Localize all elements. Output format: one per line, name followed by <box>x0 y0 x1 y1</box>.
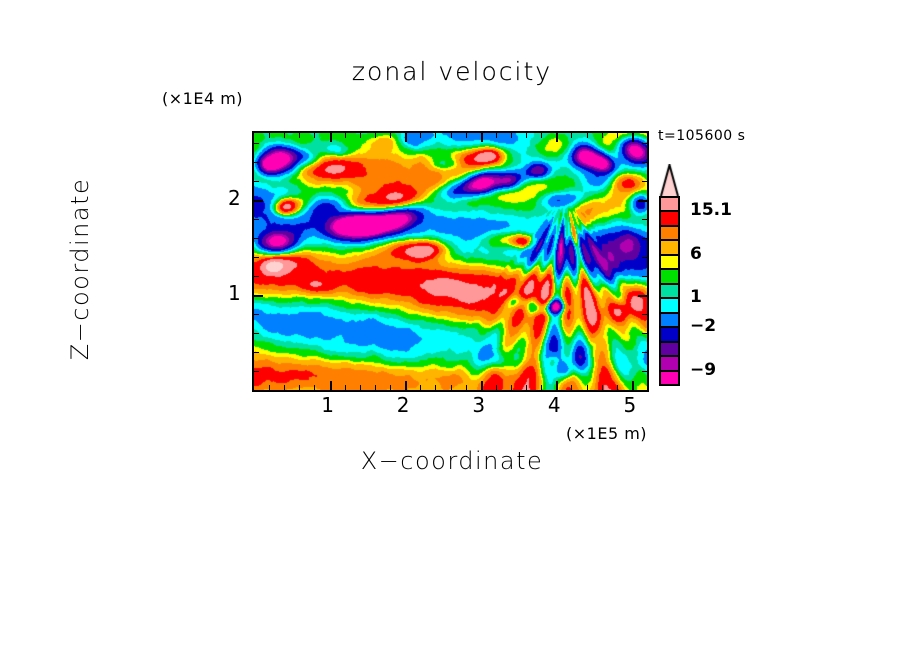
y-tick-left <box>254 314 259 315</box>
y-tick-right <box>638 200 647 202</box>
colorbar <box>659 196 680 384</box>
colorbar-top-cap <box>659 164 680 196</box>
x-tick-bottom <box>314 385 315 390</box>
x-tick-top <box>556 133 558 142</box>
y-tick-right <box>642 181 647 182</box>
y-tick-right <box>642 143 647 144</box>
x-tick-top <box>314 133 315 138</box>
x-tick-bottom <box>299 385 300 390</box>
x-axis-title: X−coordinate <box>0 447 904 475</box>
x-tick-top <box>420 133 421 138</box>
y-tick-label: 1 <box>228 281 241 305</box>
x-tick-top <box>571 133 572 138</box>
x-tick-bottom <box>345 385 346 390</box>
colorbar-tick-label: −9 <box>690 360 716 380</box>
x-tick-top <box>330 133 332 142</box>
y-tick-left <box>254 200 263 202</box>
y-tick-right <box>642 352 647 353</box>
x-tick-bottom <box>617 385 618 390</box>
x-tick-top <box>617 133 618 138</box>
x-tick-top <box>299 133 300 138</box>
x-tick-top <box>390 133 391 138</box>
y-tick-right <box>642 257 647 258</box>
contour-plot-area <box>252 131 649 392</box>
x-tick-top <box>632 133 634 142</box>
y-tick-right <box>638 295 647 297</box>
x-axis-units-label: (×1E5 m) <box>566 424 647 443</box>
colorbar-segment <box>659 312 680 326</box>
y-tick-left <box>254 276 259 277</box>
x-tick-bottom <box>284 385 285 390</box>
x-tick-top <box>541 133 542 138</box>
colorbar-cap-canvas <box>659 164 680 196</box>
colorbar-segment <box>659 341 680 355</box>
x-tick-top <box>360 133 361 138</box>
y-tick-left <box>254 162 259 163</box>
x-tick-bottom <box>602 385 603 390</box>
x-tick-label: 4 <box>548 393 561 417</box>
x-tick-top <box>375 133 376 138</box>
y-tick-left <box>254 181 259 182</box>
x-tick-bottom <box>375 385 376 390</box>
y-axis-units-label: (×1E4 m) <box>162 89 243 108</box>
x-tick-bottom <box>360 385 361 390</box>
y-tick-right <box>642 219 647 220</box>
colorbar-segment <box>659 239 680 253</box>
colorbar-tick-label: 15.1 <box>690 200 732 220</box>
colorbar-segment <box>659 196 680 210</box>
x-tick-bottom <box>632 381 634 390</box>
colorbar-segment <box>659 268 680 282</box>
y-tick-left <box>254 143 259 144</box>
colorbar-tick-label: 6 <box>690 244 702 264</box>
x-tick-top <box>587 133 588 138</box>
y-tick-left <box>254 257 259 258</box>
x-tick-bottom <box>556 381 558 390</box>
colorbar-segment <box>659 297 680 311</box>
x-tick-top <box>405 133 407 142</box>
colorbar-segment <box>659 283 680 297</box>
y-tick-right <box>642 371 647 372</box>
colorbar-segment <box>659 254 680 268</box>
timestamp-label: t=105600 s <box>658 128 745 144</box>
y-tick-left <box>254 295 263 297</box>
x-tick-label: 3 <box>472 393 485 417</box>
y-tick-right <box>642 314 647 315</box>
x-tick-bottom <box>587 385 588 390</box>
y-axis-title: Z−coordinate <box>66 129 94 409</box>
x-tick-bottom <box>435 385 436 390</box>
x-tick-bottom <box>526 385 527 390</box>
x-tick-top <box>526 133 527 138</box>
x-tick-top <box>466 133 467 138</box>
y-tick-left <box>254 371 259 372</box>
colorbar-segment <box>659 210 680 224</box>
y-tick-left <box>254 238 259 239</box>
x-tick-top <box>284 133 285 138</box>
y-tick-left <box>254 333 259 334</box>
x-tick-top <box>511 133 512 138</box>
x-tick-top <box>345 133 346 138</box>
y-tick-left <box>254 219 259 220</box>
x-tick-bottom <box>541 385 542 390</box>
x-tick-bottom <box>451 385 452 390</box>
y-tick-label: 2 <box>228 186 241 210</box>
x-tick-bottom <box>496 385 497 390</box>
x-tick-top <box>269 133 270 138</box>
x-tick-bottom <box>330 381 332 390</box>
y-tick-right <box>642 238 647 239</box>
y-tick-right <box>642 333 647 334</box>
x-tick-bottom <box>571 385 572 390</box>
x-tick-label: 1 <box>321 393 334 417</box>
x-tick-label: 5 <box>624 393 637 417</box>
x-tick-top <box>451 133 452 138</box>
y-tick-right <box>642 276 647 277</box>
contour-field <box>254 133 647 390</box>
colorbar-segment <box>659 370 680 384</box>
colorbar-segment <box>659 326 680 340</box>
x-tick-top <box>496 133 497 138</box>
colorbar-bottom-border <box>659 384 680 386</box>
x-tick-top <box>481 133 483 142</box>
x-tick-bottom <box>481 381 483 390</box>
x-tick-bottom <box>466 385 467 390</box>
x-tick-top <box>435 133 436 138</box>
x-tick-label: 2 <box>397 393 410 417</box>
x-tick-top <box>602 133 603 138</box>
x-tick-bottom <box>420 385 421 390</box>
y-tick-right <box>642 162 647 163</box>
x-tick-bottom <box>390 385 391 390</box>
page-title: zonal velocity <box>0 57 904 86</box>
colorbar-tick-label: 1 <box>690 287 702 307</box>
x-tick-bottom <box>405 381 407 390</box>
colorbar-segment <box>659 355 680 369</box>
colorbar-segment <box>659 225 680 239</box>
colorbar-tick-label: −2 <box>690 316 716 336</box>
x-tick-bottom <box>269 385 270 390</box>
x-tick-bottom <box>511 385 512 390</box>
y-tick-left <box>254 352 259 353</box>
